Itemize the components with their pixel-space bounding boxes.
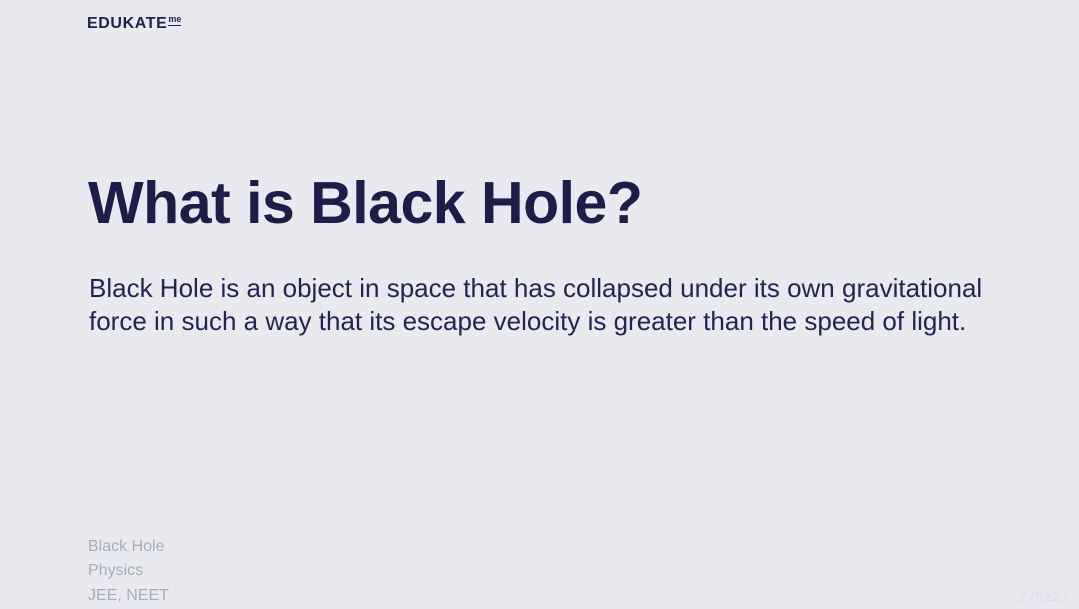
- presentation-slide: EDUKATE me What is Black Hole? Black Hol…: [0, 0, 1079, 607]
- edukate-logo[interactable]: EDUKATE me: [87, 16, 181, 32]
- slide-title: What is Black Hole?: [88, 173, 642, 235]
- brand-suffix-text: me: [168, 15, 181, 26]
- slide-id-watermark: 276227: [1019, 588, 1069, 604]
- slide-footer-meta: Black Hole Physics JEE, NEET: [88, 535, 169, 609]
- slide-body-text: Black Hole is an object in space that ha…: [89, 272, 984, 337]
- footer-exams: JEE, NEET: [88, 584, 169, 609]
- footer-subject: Physics: [88, 559, 169, 584]
- footer-topic: Black Hole: [88, 535, 169, 560]
- brand-name-text: EDUKATE: [87, 16, 167, 32]
